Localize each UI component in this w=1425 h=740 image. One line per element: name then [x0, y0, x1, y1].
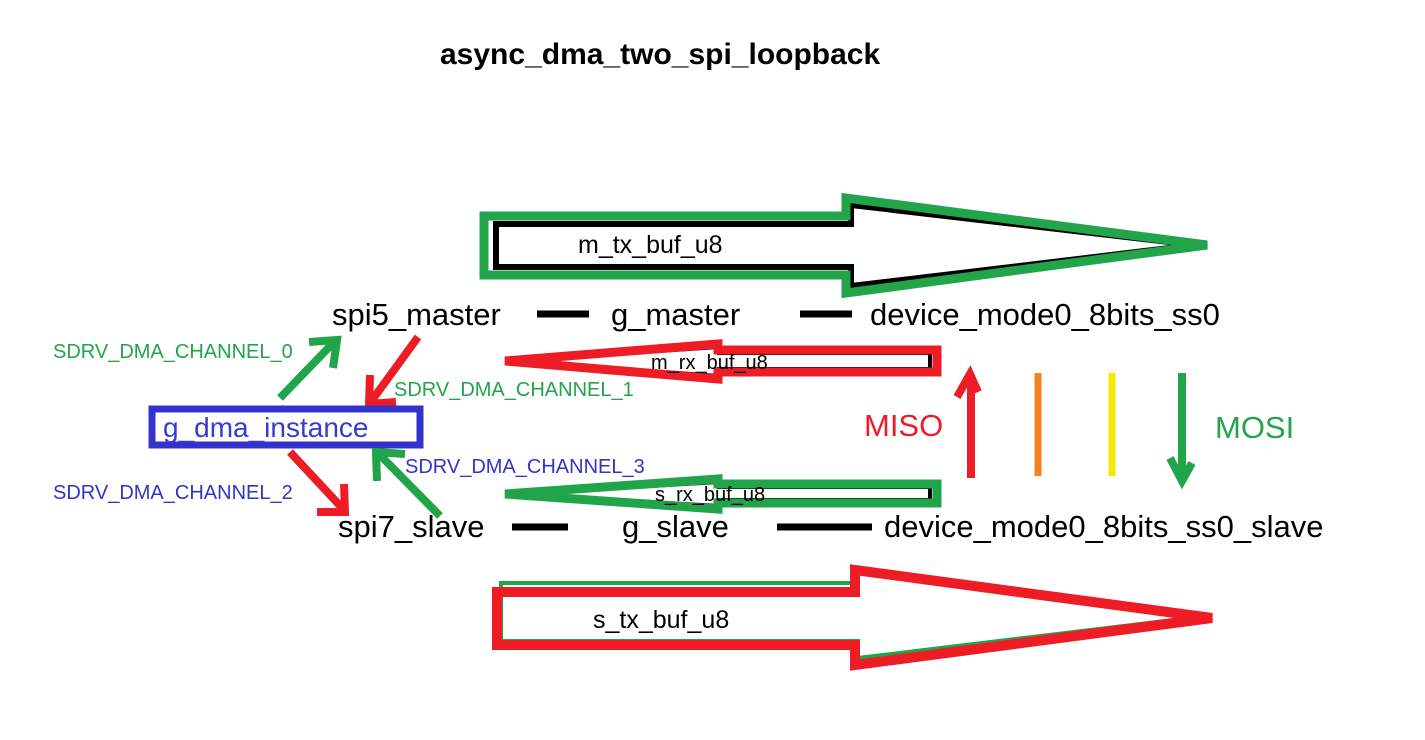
diagram-canvas: async_dma_two_spi_loopback m_tx_buf_u8 s…: [0, 0, 1425, 740]
master-tx-buffer-label: m_tx_buf_u8: [578, 231, 723, 259]
dma-instance-label: g_dma_instance: [163, 412, 368, 443]
dma-channel-2-arrow-shaft: [290, 452, 344, 510]
spi-master-driver-label: spi5_master: [332, 297, 501, 332]
dma-channel-3-label: SDRV_DMA_CHANNEL_3: [405, 456, 645, 478]
dma-instance-box: g_dma_instance: [152, 409, 420, 445]
dma-channel-2-label: SDRV_DMA_CHANNEL_2: [53, 482, 293, 504]
signal-wires: MISO MOSI: [864, 373, 1294, 481]
slave-handle-label: g_slave: [622, 509, 729, 544]
slave-chain: spi7_slave g_slave device_mode0_8bits_ss…: [338, 509, 1323, 544]
spi-slave-driver-label: spi7_slave: [338, 509, 484, 544]
miso-label: MISO: [864, 408, 943, 443]
diagram-root: async_dma_two_spi_loopback m_tx_buf_u8 s…: [0, 0, 1425, 740]
master-rx-buffer-label: m_rx_buf_u8: [651, 352, 768, 374]
slave-rx-buffer-label: s_rx_buf_u8: [655, 484, 765, 506]
slave-tx-buffer-label: s_tx_buf_u8: [593, 606, 729, 634]
slave-rx-buffer-arrow: s_rx_buf_u8: [505, 479, 937, 509]
dma-channel-1-label: SDRV_DMA_CHANNEL_1: [394, 379, 634, 401]
page-title: async_dma_two_spi_loopback: [440, 38, 880, 71]
dma-channel-2: SDRV_DMA_CHANNEL_2: [53, 452, 345, 512]
master-rx-buffer-arrow: m_rx_buf_u8: [505, 344, 937, 379]
dma-channel-0-label: SDRV_DMA_CHANNEL_0: [53, 341, 293, 363]
dma-channel-0: SDRV_DMA_CHANNEL_0: [53, 340, 337, 398]
slave-tx-buffer-arrow: s_tx_buf_u8: [497, 568, 1212, 665]
master-tx-buffer-arrow: m_tx_buf_u8: [484, 198, 1207, 293]
master-device-label: device_mode0_8bits_ss0: [870, 297, 1220, 332]
mosi-label: MOSI: [1215, 410, 1294, 445]
master-chain: spi5_master g_master device_mode0_8bits_…: [332, 297, 1220, 332]
slave-device-label: device_mode0_8bits_ss0_slave: [884, 509, 1323, 544]
master-handle-label: g_master: [611, 297, 740, 332]
